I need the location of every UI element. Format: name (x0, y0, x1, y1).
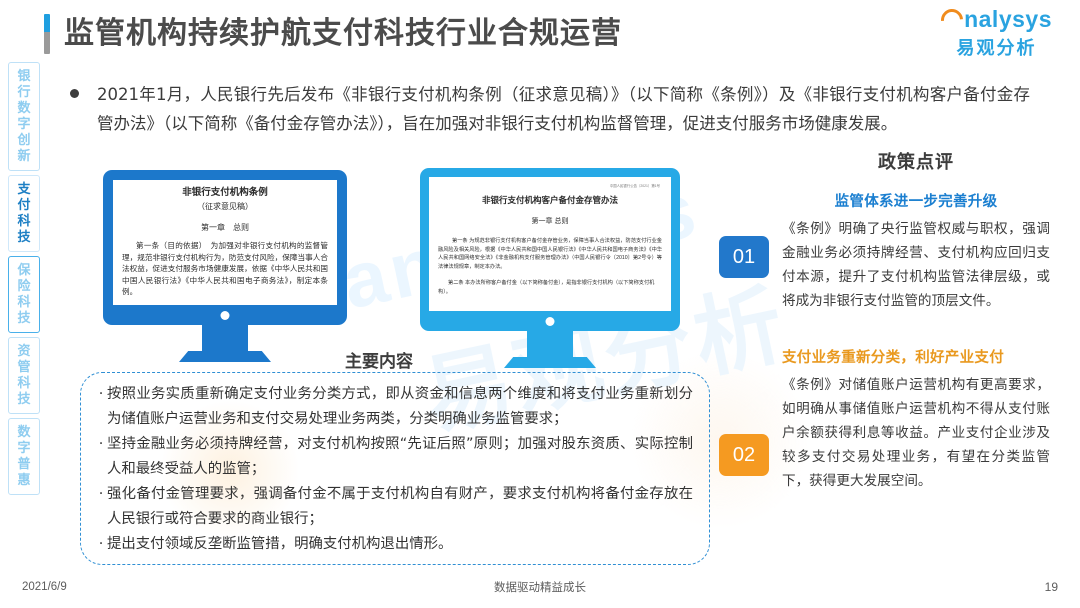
sidebar-item-label-char: 行 (9, 84, 39, 100)
logo-chinese: 易观分析 (941, 34, 1052, 60)
sidebar-item-label-char: 惠 (9, 472, 39, 488)
commentary-block-2: 支付业务重新分类，利好产业支付 《条例》对储值账户运营机构有更高要求，如明确从事… (782, 346, 1050, 493)
doc-body: 第一条 为规范非银行支付机构客户备付金存管业务，保障当事人合法权益，防范支付行业… (438, 237, 662, 271)
doc-chapter: 第一章 总则 (122, 220, 328, 236)
main-content-item-text: 坚持金融业务必须持牌经营，对支付机构按照“先证后照”原则；加强对股东资质、实际控… (107, 432, 693, 482)
sidebar-item-label-char: 字 (9, 440, 39, 456)
slide-root: analysys 易观分析 监管机构持续护航支付科技行业合规运营 nalysys… (0, 0, 1080, 608)
sidebar-item-2[interactable]: 保险科技 (8, 256, 40, 333)
commentary-heading-1: 监管体系进一步完善升级 (782, 190, 1050, 211)
sidebar-item-label-char: 新 (9, 148, 39, 164)
document-preview: 中国人民银行公告〔2021〕第1号 非银行支付机构客户备付金存管办法 第一章 总… (429, 177, 671, 297)
sidebar-item-label-char: 银 (9, 68, 39, 84)
badge-01: 01 (719, 236, 769, 278)
sidebar-item-label-char: 数 (9, 100, 39, 116)
list-bullet-icon: · (95, 382, 107, 432)
monitor-screen: 中国人民银行公告〔2021〕第1号 非银行支付机构客户备付金存管办法 第一章 总… (429, 177, 671, 311)
monitor-neck (527, 331, 573, 357)
list-bullet-icon: · (95, 432, 107, 482)
sidebar-item-label-char: 创 (9, 132, 39, 148)
document-preview: 非银行支付机构条例 （征求意见稿） 第一章 总则 第一条（目的依据） 为加强对非… (113, 180, 337, 298)
main-content-item: ·坚持金融业务必须持牌经营，对支付机构按照“先证后照”原则；加强对股东资质、实际… (95, 432, 693, 482)
monitor-screen: 非银行支付机构条例 （征求意见稿） 第一章 总则 第一条（目的依据） 为加强对非… (113, 180, 337, 305)
sidebar-item-label-char: 科 (9, 375, 39, 391)
sidebar-item-label-char: 保 (9, 262, 39, 278)
sidebar: 银行数字创新支付科技保险科技资管科技数字普惠 (8, 62, 44, 499)
monitor-base (504, 357, 596, 368)
list-bullet-icon: · (95, 532, 107, 557)
footer-page-number: 19 (1045, 580, 1058, 594)
main-content-item: ·提出支付领域反垄断监管措，明确支付机构退出情形。 (95, 532, 693, 557)
sidebar-item-label-char: 付 (9, 197, 39, 213)
doc-title: 非银行支付机构条例 (122, 186, 328, 199)
sidebar-item-1[interactable]: 支付科技 (8, 175, 40, 252)
sidebar-item-label-char: 字 (9, 116, 39, 132)
brand-logo: nalysys 易观分析 (941, 8, 1052, 60)
sidebar-item-3[interactable]: 资管科技 (8, 337, 40, 414)
sidebar-item-label-char: 科 (9, 213, 39, 229)
doc-title: 非银行支付机构客户备付金存管办法 (438, 194, 662, 207)
main-content-label: 主要内容 (345, 347, 413, 372)
commentary-block-1: 监管体系进一步完善升级 《条例》明确了央行监管权威与职权，强调金融业务必须持牌经… (782, 190, 1050, 313)
sidebar-item-label-char: 管 (9, 359, 39, 375)
logo-wordmark: nalysys (964, 8, 1052, 31)
monitor-regulation-draft: 非银行支付机构条例 （征求意见稿） 第一章 总则 第一条（目的依据） 为加强对非… (103, 170, 347, 362)
sidebar-item-label-char: 资 (9, 343, 39, 359)
doc-subtitle: （征求意见稿） (122, 200, 328, 214)
title-text: 监管机构持续护航支付科技行业合规运营 (64, 19, 622, 49)
main-content-item: ·按照业务实质重新确定支付业务分类方式，即从资金和信息两个维度和将支付业务重新划… (95, 382, 693, 432)
sidebar-item-4[interactable]: 数字普惠 (8, 418, 40, 495)
sidebar-item-0[interactable]: 银行数字创新 (8, 62, 40, 171)
sidebar-item-label-char: 普 (9, 456, 39, 472)
main-content-box: ·按照业务实质重新确定支付业务分类方式，即从资金和信息两个维度和将支付业务重新划… (80, 372, 710, 565)
intro-bullet: 2021年1月，人民银行先后发布《非银行支付机构条例（征求意见稿）》（以下简称《… (70, 80, 1030, 138)
monitor-neck (202, 325, 248, 351)
bullet-dot-icon (70, 89, 79, 98)
sidebar-item-label-char: 技 (9, 310, 39, 326)
footer-date: 2021/6/9 (22, 581, 67, 593)
commentary-body-1: 《条例》明确了央行监管权威与职权，强调金融业务必须持牌经营、支付机构应回归支付本… (782, 217, 1050, 313)
main-content-item-text: 强化备付金管理要求，强调备付金不属于支付机构自有财产，要求支付机构将备付金存放在… (107, 482, 693, 532)
main-content-item: ·强化备付金管理要求，强调备付金不属于支付机构自有财产，要求支付机构将备付金存放… (95, 482, 693, 532)
commentary-body-2: 《条例》对储值账户运营机构有更高要求，如明确从事储值账户运营机构不得从支付账户余… (782, 373, 1050, 493)
sidebar-item-label-char: 技 (9, 229, 39, 245)
intro-bullet-text: 2021年1月，人民银行先后发布《非银行支付机构条例（征求意见稿）》（以下简称《… (97, 80, 1030, 138)
title-accent-bar (44, 14, 50, 54)
commentary-title: 政策点评 (782, 148, 1050, 174)
footer: 2021/6/9 数据驱动精益成长 19 (0, 579, 1080, 595)
doc-body-2: 第二条 本办法所称客户备付金（以下简称备付金），是指非银行支付机构（以下简称支付… (438, 279, 662, 296)
sidebar-item-label-char: 技 (9, 391, 39, 407)
page-title: 监管机构持续护航支付科技行业合规运营 (44, 14, 622, 54)
list-bullet-icon: · (95, 482, 107, 532)
badge-02: 02 (719, 434, 769, 476)
doc-chapter: 第一章 总则 (438, 214, 662, 230)
main-content-item-text: 按照业务实质重新确定支付业务分类方式，即从资金和信息两个维度和将支付业务重新划分… (107, 382, 693, 432)
footer-slogan: 数据驱动精益成长 (0, 579, 1080, 595)
monitor-frame: 中国人民银行公告〔2021〕第1号 非银行支付机构客户备付金存管办法 第一章 总… (420, 168, 680, 331)
commentary-column: 政策点评 监管体系进一步完善升级 《条例》明确了央行监管权威与职权，强调金融业务… (782, 148, 1050, 493)
monitor-base (179, 351, 271, 362)
doc-stamp: 中国人民银行公告〔2021〕第1号 (438, 183, 660, 188)
main-content-item-text: 提出支付领域反垄断监管措，明确支付机构退出情形。 (107, 532, 693, 557)
sidebar-item-label-char: 科 (9, 294, 39, 310)
monitor-power-dot-icon (546, 317, 555, 326)
doc-body: 第一条（目的依据） 为加强对非银行支付机构的监督管理，规范非银行支付机构行为，防… (122, 240, 328, 298)
monitor-frame: 非银行支付机构条例 （征求意见稿） 第一章 总则 第一条（目的依据） 为加强对非… (103, 170, 347, 325)
sidebar-item-label-char: 数 (9, 424, 39, 440)
commentary-heading-2: 支付业务重新分类，利好产业支付 (782, 346, 1050, 367)
monitor-power-dot-icon (221, 311, 230, 320)
logo-swoosh-icon (937, 4, 968, 35)
sidebar-item-label-char: 支 (9, 181, 39, 197)
sidebar-item-label-char: 险 (9, 278, 39, 294)
monitor-custody-measures: 中国人民银行公告〔2021〕第1号 非银行支付机构客户备付金存管办法 第一章 总… (420, 168, 680, 368)
